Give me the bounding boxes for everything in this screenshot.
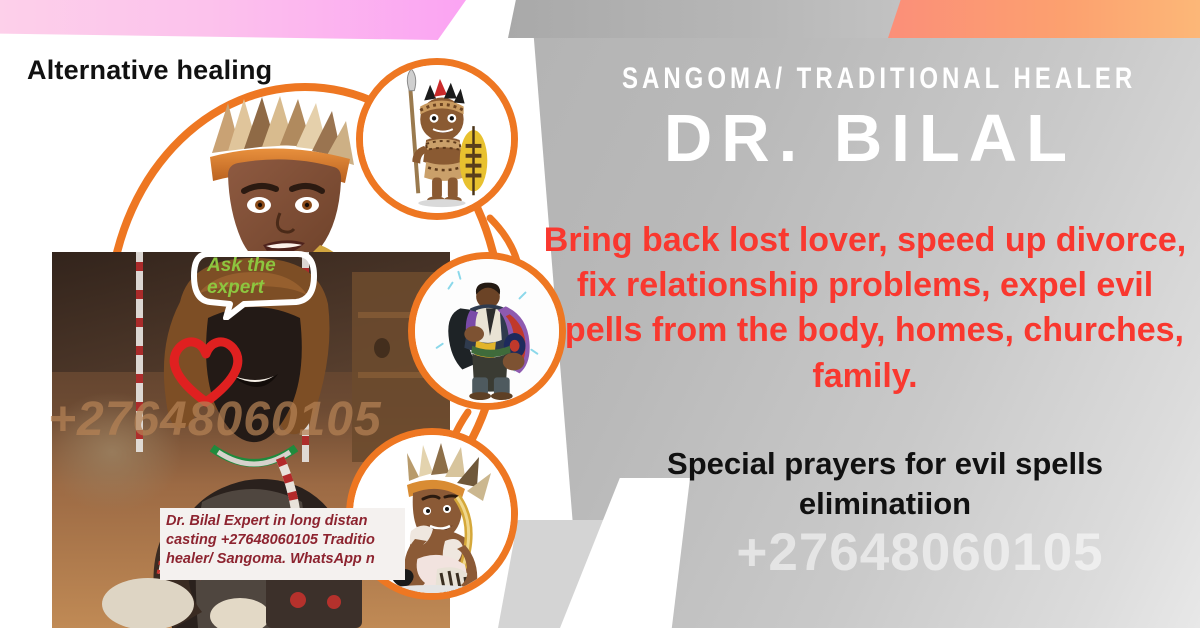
tagline-alternative-healing: Alternative healing <box>27 55 272 86</box>
poster-canvas: Alternative healing <box>0 0 1200 628</box>
photo-caption-line-3: healer/ Sangoma. WhatsApp n <box>166 550 399 569</box>
top-band-gray <box>508 0 900 38</box>
top-band-orange <box>888 0 1200 38</box>
circle-robed-healer <box>408 252 566 410</box>
photo-caption-line-2: casting +27648060105 Traditio <box>166 531 399 550</box>
watermark-phone: +27648060105 <box>48 392 448 447</box>
special-prayers-text: Special prayers for evil spells eliminat… <box>600 444 1170 525</box>
headline-doctor-name: DR. BILAL <box>560 104 1180 174</box>
speech-bubble-text: Ask the expert <box>207 255 317 299</box>
kicker-sangoma-traditional-healer: SANGOMA/ TRADITIONAL HEALER <box>622 62 1118 96</box>
ghost-phone-number: +27648060105 <box>640 522 1200 583</box>
circle-zulu-warrior <box>356 58 518 220</box>
photo-caption-box: Dr. Bilal Expert in long distan casting … <box>160 508 405 580</box>
top-band-pink <box>0 0 466 40</box>
photo-caption-line-1: Dr. Bilal Expert in long distan <box>166 512 399 531</box>
robed-healer-icon <box>415 259 559 403</box>
services-description: Bring back lost lover, speed up divorce,… <box>540 218 1190 399</box>
zulu-warrior-icon <box>363 65 511 213</box>
